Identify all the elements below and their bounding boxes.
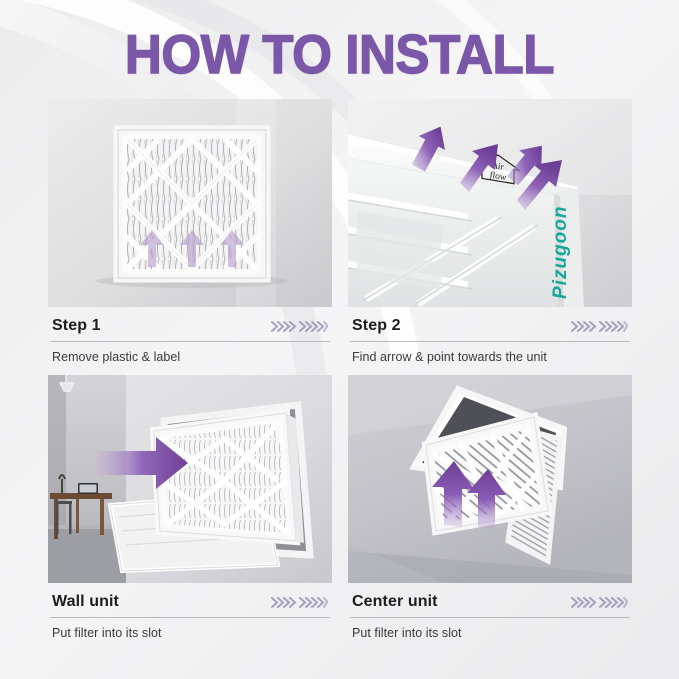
step-card-3: Wall unit Put filter into its slot <box>48 375 332 640</box>
chevron-right-group-icon <box>570 320 628 333</box>
step-description: Put filter into its slot <box>348 618 632 640</box>
step-caption-1: Step 1 Remove plastic & label <box>48 307 332 364</box>
step-card-1: Step 1 Remove plastic & label <box>48 99 332 364</box>
step-label: Step 2 <box>352 317 401 335</box>
step-description: Remove plastic & label <box>48 342 332 364</box>
step-card-2: Air flow Pizugoon Step 2 <box>348 99 632 364</box>
step-label: Center unit <box>352 593 438 611</box>
chevron-right-group-icon <box>570 596 628 609</box>
airflow-arrow-icon <box>140 230 244 267</box>
filter-airflow-label-photo: Air flow Pizugoon <box>348 99 632 307</box>
step-caption-4: Center unit Put filter into its slot <box>348 583 632 640</box>
step-label: Wall unit <box>52 593 119 611</box>
brand-text: Pizugoon <box>550 206 571 299</box>
step-caption-3: Wall unit Put filter into its slot <box>48 583 332 640</box>
room-scene <box>48 375 126 583</box>
step-label: Step 1 <box>52 317 101 335</box>
page-title: HOW TO INSTALL <box>24 26 655 82</box>
step-caption-2: Step 2 Find arrow & point towards the un… <box>348 307 632 364</box>
step-description: Find arrow & point towards the unit <box>348 342 632 364</box>
chevron-right-group-icon <box>270 320 328 333</box>
pleated-filter <box>154 413 304 543</box>
ceiling-vent-install-photo <box>348 375 632 583</box>
wall-vent-install-photo <box>48 375 332 583</box>
pleated-air-filter-front-photo <box>48 99 332 307</box>
step-card-4: Center unit Put filter into its slot <box>348 375 632 640</box>
step-description: Put filter into its slot <box>48 618 332 640</box>
chevron-right-group-icon <box>270 596 328 609</box>
